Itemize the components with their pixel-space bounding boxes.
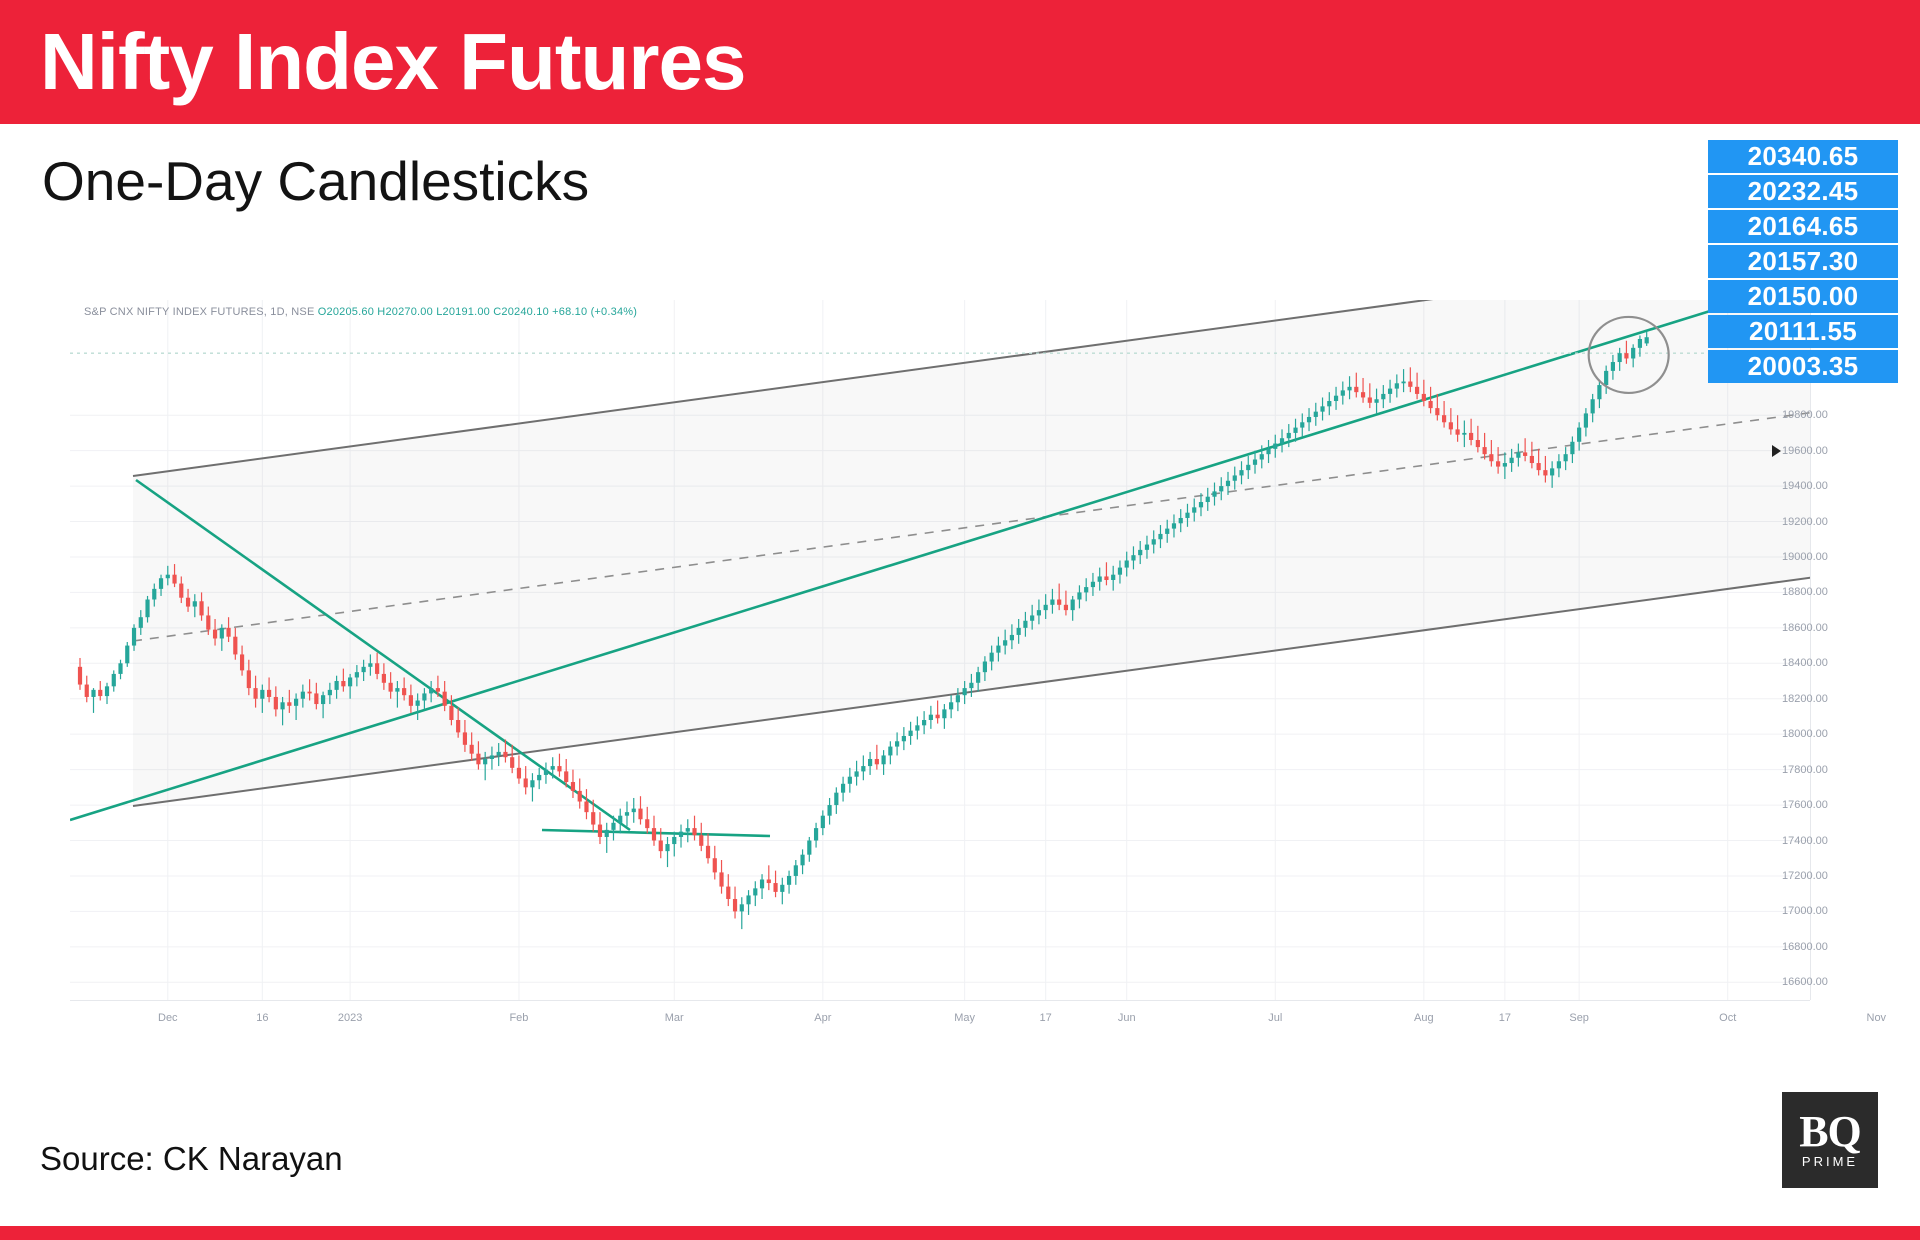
candle-body: [672, 837, 676, 844]
candle-body: [429, 688, 433, 693]
candle-body: [659, 841, 663, 852]
candle-body: [456, 720, 460, 732]
candle-body: [861, 766, 865, 771]
candle-body: [1260, 454, 1264, 459]
price-tag: 20164.65: [1708, 210, 1898, 243]
candle-body: [1091, 582, 1095, 587]
candle-body: [638, 809, 642, 820]
footer-accent-bar: [0, 1226, 1920, 1240]
y-axis-tick-label: 19800.00: [1782, 409, 1828, 421]
candle-body: [308, 692, 312, 694]
candle-body: [253, 688, 257, 699]
x-axis-tick-label: Oct: [1719, 1012, 1736, 1024]
candle-body: [875, 759, 879, 764]
candle-body: [1368, 397, 1372, 402]
candle-body: [389, 683, 393, 692]
y-axis-tick-label: 16800.00: [1782, 941, 1828, 953]
x-axis-tick-label: Nov: [1867, 1012, 1887, 1024]
candle-body: [449, 706, 453, 720]
candle-body: [125, 646, 129, 664]
logo-bq-text: BQ: [1799, 1110, 1861, 1154]
y-axis-tick-label: 16600.00: [1782, 976, 1828, 988]
candle-body: [726, 887, 730, 899]
candle-body: [483, 759, 487, 764]
candlestick-chart: S&P CNX NIFTY INDEX FUTURES, 1D, NSE O20…: [70, 300, 1870, 1040]
chart-svg: [70, 300, 1810, 1000]
candle-body: [645, 819, 649, 828]
chart-open-value: O20205.60: [318, 306, 374, 318]
candle-body: [1422, 394, 1426, 401]
price-tag: 20157.30: [1708, 245, 1898, 278]
candle-body: [1273, 444, 1277, 449]
candle-body: [1334, 396, 1338, 401]
candle-body: [1104, 576, 1108, 580]
candle-body: [773, 883, 777, 892]
candle-body: [983, 662, 987, 673]
candle-body: [976, 672, 980, 683]
candle-body: [375, 663, 379, 674]
candle-body: [1010, 635, 1014, 640]
candle-body: [1185, 513, 1189, 518]
candle-body: [780, 885, 784, 892]
candle-body: [409, 695, 413, 706]
candle-body: [551, 766, 555, 770]
candle-body: [78, 667, 82, 685]
candle-body: [382, 674, 386, 683]
candle-body: [787, 876, 791, 885]
candle-body: [85, 685, 89, 697]
candle-body: [233, 637, 237, 655]
x-axis-tick-label: 17: [1499, 1012, 1511, 1024]
candle-body: [1023, 621, 1027, 628]
candle-body: [1233, 475, 1237, 480]
candle-body: [1341, 390, 1345, 395]
candle-body: [1057, 599, 1061, 604]
candle-body: [949, 702, 953, 709]
candle-body: [1287, 433, 1291, 438]
candle-body: [699, 835, 703, 846]
candle-body: [1212, 491, 1216, 496]
candle-body: [915, 725, 919, 730]
candle-body: [827, 805, 831, 816]
candle-body: [368, 663, 372, 667]
candle-body: [1361, 392, 1365, 397]
x-axis-tick-label: Dec: [158, 1012, 178, 1024]
candle-body: [1618, 353, 1622, 362]
candle-body: [1516, 452, 1520, 457]
y-axis-tick-label: 19200.00: [1782, 516, 1828, 528]
y-axis-tick-label: 18000.00: [1782, 728, 1828, 740]
chart-close-value: C20240.10: [493, 306, 549, 318]
candle-body: [800, 855, 804, 866]
candle-body: [402, 688, 406, 695]
candle-body: [1435, 408, 1439, 415]
candle-body: [247, 670, 251, 688]
candle-body: [591, 812, 595, 824]
candle-body: [854, 771, 858, 776]
candle-body: [1300, 422, 1304, 427]
candle-body: [1624, 353, 1628, 358]
candle-body: [287, 702, 291, 706]
y-axis-tick-label: 19400.00: [1782, 480, 1828, 492]
candle-body: [132, 628, 136, 646]
candle-body: [1327, 401, 1331, 406]
candle-body: [578, 791, 582, 802]
candle-body: [341, 681, 345, 686]
candle-body: [152, 589, 156, 600]
candle-body: [557, 766, 561, 771]
candle-body: [1179, 518, 1183, 523]
candle-body: [1449, 422, 1453, 429]
candle-body: [544, 770, 548, 775]
candle-body: [841, 784, 845, 793]
candle-body: [1030, 615, 1034, 620]
candle-body: [1462, 433, 1466, 435]
candle-body: [814, 828, 818, 840]
candle-body: [139, 617, 143, 628]
x-axis-line: [70, 1000, 1810, 1001]
candle-body: [706, 846, 710, 858]
candle-body: [611, 823, 615, 830]
candle-body: [314, 693, 318, 704]
candle-body: [1530, 456, 1534, 463]
candle-body: [888, 747, 892, 756]
chart-ohlc-header: S&P CNX NIFTY INDEX FUTURES, 1D, NSE O20…: [84, 306, 637, 318]
y-axis-tick-label: 18400.00: [1782, 657, 1828, 669]
candle-body: [719, 872, 723, 886]
candle-body: [186, 598, 190, 607]
candle-body: [1415, 387, 1419, 394]
candle-body: [1638, 339, 1642, 348]
candle-body: [362, 667, 366, 672]
candle-body: [1226, 481, 1230, 486]
candle-body: [267, 690, 271, 697]
y-axis-tick-label: 19000.00: [1782, 551, 1828, 563]
candle-body: [321, 695, 325, 704]
candle-body: [1645, 337, 1649, 343]
candle-body: [1483, 447, 1487, 454]
candle-body: [1098, 576, 1102, 581]
candle-body: [179, 584, 183, 598]
candle-body: [584, 802, 588, 813]
x-axis-tick-label: 16: [256, 1012, 268, 1024]
price-tag: 20232.45: [1708, 175, 1898, 208]
candle-body: [956, 695, 960, 702]
candle-body: [1253, 459, 1257, 464]
price-tag: 20003.35: [1708, 350, 1898, 383]
candle-body: [1476, 440, 1480, 447]
candle-body: [686, 828, 690, 832]
candle-body: [605, 830, 609, 837]
candle-body: [618, 816, 622, 823]
candle-body: [1489, 454, 1493, 461]
candle-body: [990, 653, 994, 662]
candle-body: [746, 895, 750, 904]
candle-body: [490, 755, 494, 759]
candle-body: [524, 778, 528, 787]
candle-body: [1064, 605, 1068, 610]
y-axis-tick-label: 18600.00: [1782, 622, 1828, 634]
candle-body: [328, 690, 332, 695]
candle-body: [1523, 452, 1527, 456]
candle-body: [1564, 454, 1568, 461]
x-axis-tick-label: Apr: [814, 1012, 831, 1024]
candle-body: [1307, 417, 1311, 422]
candle-body: [172, 575, 176, 584]
candle-body: [1395, 383, 1399, 388]
candle-body: [807, 841, 811, 855]
candle-body: [510, 757, 514, 768]
x-axis-tick-label: Jul: [1268, 1012, 1282, 1024]
price-tag: 20340.65: [1708, 140, 1898, 173]
candle-body: [517, 768, 521, 779]
candle-body: [1003, 640, 1007, 645]
candle-body: [260, 690, 264, 699]
candle-body: [355, 672, 359, 677]
current-price-marker: [1772, 445, 1781, 457]
page-subtitle: One-Day Candlesticks: [42, 150, 589, 212]
candle-body: [301, 692, 305, 699]
x-axis-tick-label: 2023: [338, 1012, 362, 1024]
candle-body: [882, 755, 886, 764]
candle-body: [1246, 465, 1250, 470]
y-axis-tick-label: 17400.00: [1782, 835, 1828, 847]
candle-body: [1118, 568, 1122, 575]
candle-body: [909, 731, 913, 736]
candle-body: [598, 825, 602, 837]
candle-body: [112, 674, 116, 686]
y-axis-tick-label: 19600.00: [1782, 445, 1828, 457]
candle-body: [1017, 628, 1021, 635]
candle-body: [834, 793, 838, 805]
candle-body: [1584, 413, 1588, 427]
candle-body: [463, 732, 467, 744]
y-axis-tick-label: 18200.00: [1782, 693, 1828, 705]
y-axis-tick-label: 17200.00: [1782, 870, 1828, 882]
candle-body: [145, 599, 149, 617]
candle-body: [1111, 575, 1115, 580]
candle-body: [1037, 610, 1041, 615]
candle-body: [1172, 523, 1176, 528]
x-axis-tick-label: Jun: [1118, 1012, 1136, 1024]
candle-body: [1071, 599, 1075, 610]
candle-body: [1503, 463, 1507, 467]
candle-body: [1381, 394, 1385, 399]
candle-body: [1401, 382, 1405, 384]
candle-body: [963, 688, 967, 695]
candle-body: [1131, 555, 1135, 560]
candle-body: [1631, 348, 1635, 359]
candle-body: [902, 736, 906, 741]
candle-body: [1388, 389, 1392, 394]
y-axis-tick-label: 17600.00: [1782, 799, 1828, 811]
candle-body: [733, 899, 737, 911]
candle-body: [503, 752, 507, 757]
candle-body: [665, 844, 669, 851]
candle-body: [395, 688, 399, 692]
candle-body: [1152, 539, 1156, 544]
candle-body: [1428, 401, 1432, 408]
candle-body: [1469, 433, 1473, 440]
candle-body: [1084, 587, 1088, 592]
candle-body: [936, 715, 940, 719]
candle-body: [105, 686, 109, 696]
candle-body: [530, 780, 534, 787]
candle-body: [1604, 371, 1608, 385]
candle-body: [1192, 507, 1196, 512]
candle-body: [213, 630, 217, 639]
price-level-tags: 20340.6520232.4520164.6520157.3020150.00…: [1708, 140, 1898, 385]
candle-body: [476, 754, 480, 765]
candle-body: [1557, 461, 1561, 468]
channel-shaded-region: [133, 300, 1810, 806]
candle-body: [1314, 412, 1318, 417]
candle-body: [1145, 545, 1149, 550]
candle-body: [1199, 502, 1203, 507]
page-title: Nifty Index Futures: [40, 16, 746, 108]
y-axis-tick-label: 18800.00: [1782, 586, 1828, 598]
x-axis-tick-label: Feb: [509, 1012, 528, 1024]
candle-body: [199, 601, 203, 615]
candle-body: [794, 865, 798, 876]
candle-body: [193, 601, 197, 606]
candle-body: [166, 575, 170, 579]
candle-body: [497, 752, 501, 756]
candle-body: [848, 777, 852, 784]
candle-body: [895, 741, 899, 746]
candle-body: [1496, 461, 1500, 466]
candle-body: [1577, 428, 1581, 442]
candle-body: [1280, 438, 1284, 443]
candle-body: [220, 628, 224, 639]
candle-body: [868, 759, 872, 766]
candle-body: [713, 858, 717, 872]
candle-body: [740, 904, 744, 911]
chart-low-value: L20191.00: [436, 306, 490, 318]
chart-symbol-label: S&P CNX NIFTY INDEX FUTURES, 1D, NSE: [84, 306, 315, 318]
candle-body: [1510, 458, 1514, 463]
candle-body: [767, 879, 771, 883]
candle-body: [1456, 429, 1460, 434]
candle-body: [159, 578, 163, 589]
candle-body: [294, 699, 298, 706]
candle-body: [416, 701, 420, 706]
candle-body: [348, 677, 352, 686]
y-axis-tick-label: 17000.00: [1782, 905, 1828, 917]
candle-body: [1077, 592, 1081, 599]
candle-body: [625, 812, 629, 816]
candle-body: [632, 809, 636, 813]
y-axis-tick-label: 17800.00: [1782, 764, 1828, 776]
candle-body: [1408, 382, 1412, 387]
source-credit: Source: CK Narayan: [40, 1140, 343, 1178]
x-axis-tick-label: May: [954, 1012, 975, 1024]
candle-body: [969, 683, 973, 688]
candle-body: [821, 816, 825, 828]
candle-body: [929, 715, 933, 720]
candle-body: [274, 697, 278, 709]
candle-body: [571, 782, 575, 791]
candle-body: [118, 663, 122, 674]
candle-body: [91, 690, 95, 697]
x-axis-tick-label: Mar: [665, 1012, 684, 1024]
logo-prime-text: PRIME: [1802, 1154, 1858, 1170]
candle-body: [652, 828, 656, 840]
candle-body: [443, 692, 447, 706]
candle-body: [753, 888, 757, 895]
candle-body: [1320, 406, 1324, 411]
candle-body: [1611, 362, 1615, 371]
candle-body: [1219, 486, 1223, 491]
chart-change-value: +68.10 (+0.34%): [552, 306, 637, 318]
candle-body: [335, 681, 339, 690]
bq-prime-logo: BQ PRIME: [1782, 1092, 1878, 1188]
candle-body: [1158, 534, 1162, 539]
candle-body: [679, 832, 683, 837]
candle-body: [470, 745, 474, 754]
candle-body: [692, 828, 696, 835]
candle-body: [1050, 599, 1054, 604]
candle-body: [1570, 442, 1574, 454]
candle-body: [1239, 470, 1243, 475]
candle-body: [1165, 529, 1169, 534]
candle-body: [1044, 605, 1048, 610]
x-axis: Dec162023FebMarAprMay17JunJulAug17SepOct…: [70, 1004, 1810, 1038]
candle-body: [1206, 497, 1210, 502]
x-axis-tick-label: 17: [1040, 1012, 1052, 1024]
candle-body: [942, 709, 946, 718]
candle-body: [1293, 428, 1297, 433]
candle-body: [564, 771, 568, 782]
x-axis-tick-label: Aug: [1414, 1012, 1434, 1024]
candle-body: [226, 628, 230, 637]
price-tag: 20111.55: [1708, 315, 1898, 348]
candle-body: [240, 654, 244, 670]
candle-body: [760, 879, 764, 888]
candle-body: [206, 615, 210, 629]
y-axis: 19800.0019600.0019400.0019200.0019000.00…: [1782, 300, 1920, 1000]
price-tag: 20150.00: [1708, 280, 1898, 313]
chart-plot-area: [70, 300, 1810, 1000]
candle-body: [1597, 385, 1601, 399]
x-axis-tick-label: Sep: [1569, 1012, 1589, 1024]
candle-body: [98, 690, 102, 696]
candle-body: [1537, 463, 1541, 470]
candle-body: [1374, 399, 1378, 403]
candle-body: [1266, 449, 1270, 454]
candle-body: [1543, 470, 1547, 475]
candle-body: [996, 646, 1000, 653]
candle-body: [1591, 399, 1595, 413]
candle-body: [922, 720, 926, 725]
candle-body: [1354, 387, 1358, 392]
candle-body: [422, 693, 426, 700]
candle-body: [280, 702, 284, 709]
candle-body: [436, 688, 440, 692]
chart-high-value: H20270.00: [377, 306, 433, 318]
candle-body: [1550, 468, 1554, 475]
candle-body: [537, 775, 541, 780]
candle-body: [1442, 415, 1446, 422]
candle-body: [1138, 550, 1142, 555]
candle-body: [1125, 561, 1129, 568]
candle-body: [1347, 387, 1351, 391]
